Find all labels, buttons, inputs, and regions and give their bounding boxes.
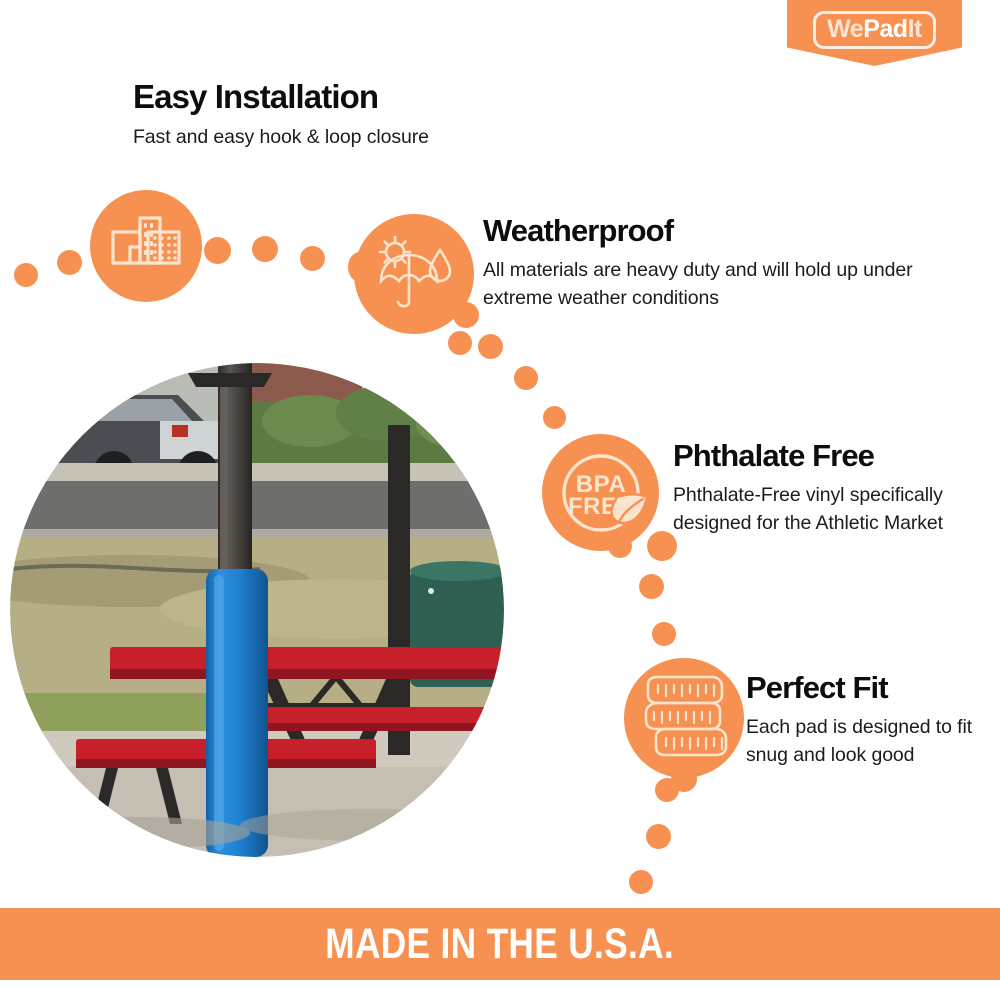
trail-dot: [652, 622, 676, 646]
trail-dot: [514, 366, 538, 390]
feature-title-weatherproof: Weatherproof: [483, 215, 673, 248]
trail-dot: [448, 331, 472, 355]
trail-dot: [204, 237, 231, 264]
trail-dot: [629, 870, 653, 894]
logo-text-it: It: [908, 15, 922, 43]
feature-title-phthalate-free: Phthalate Free: [673, 440, 874, 473]
made-in-usa-text: MADE IN THE U.S.A.: [326, 920, 675, 969]
trail-dot: [639, 574, 664, 599]
hook-and-loop-icon: [90, 190, 202, 302]
trail-dot: [478, 334, 503, 359]
trail-dot: [300, 246, 325, 271]
logo-text-we: We: [827, 15, 863, 43]
measuring-tape-icon: [624, 658, 744, 778]
feature-title-easy-installation: Easy Installation: [133, 80, 378, 115]
made-in-usa-banner: MADE IN THE U.S.A.: [0, 908, 1000, 980]
trail-dot: [646, 824, 671, 849]
feature-title-perfect-fit: Perfect Fit: [746, 672, 888, 705]
trail-dot: [14, 263, 38, 287]
feature-body-perfect-fit: Each pad is designed to fit snug and loo…: [746, 714, 978, 769]
trail-dot: [543, 406, 566, 429]
trail-dot: [57, 250, 82, 275]
brand-logo-box: WePadIt: [813, 11, 936, 49]
brand-logo-text: WePadIt: [827, 15, 922, 43]
logo-text-pad: Pad: [863, 15, 907, 43]
product-photo: [10, 363, 504, 857]
trail-dot: [252, 236, 278, 262]
bpa-free-leaf-icon: BPA FREE: [542, 434, 659, 551]
brand-logo-banner: WePadIt: [787, 0, 962, 66]
feature-body-easy-installation: Fast and easy hook & loop closure: [133, 124, 429, 152]
sun-umbrella-raindrop-icon: [354, 214, 474, 334]
feature-body-weatherproof: All materials are heavy duty and will ho…: [483, 257, 913, 312]
infographic-page: WePadIt Easy Installation Fast and easy …: [0, 0, 1000, 987]
feature-body-phthalate-free: Phthalate-Free vinyl specifically design…: [673, 482, 943, 537]
